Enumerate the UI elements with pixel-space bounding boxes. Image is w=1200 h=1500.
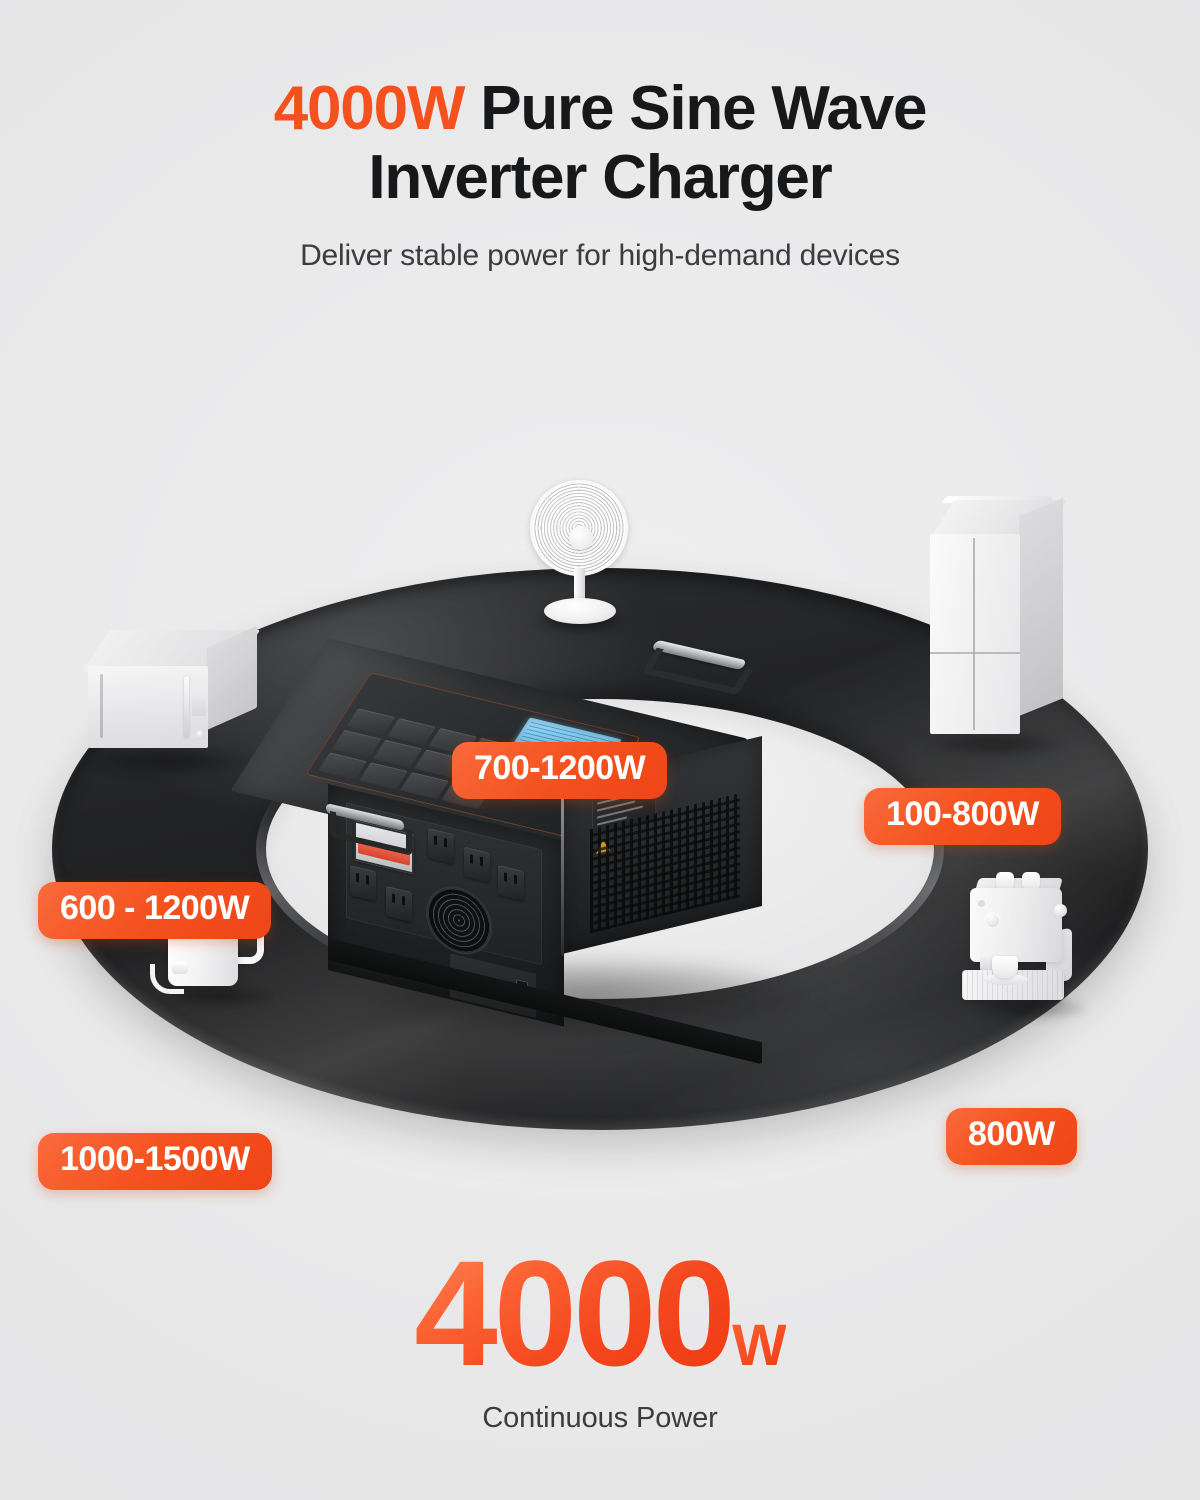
refrigerator-door-seam-horizontal [930, 652, 1020, 654]
cooling-fan-grille [428, 882, 490, 959]
microwave-icon [88, 630, 258, 770]
ac-outlet [428, 828, 454, 864]
panel-button [318, 752, 367, 779]
ac-outlet [350, 865, 376, 901]
continuous-power-value: 4000 [414, 1238, 732, 1388]
panel-button [373, 740, 422, 767]
espresso-machine-icon [962, 870, 1102, 1015]
title-accent: 4000W [274, 74, 464, 143]
coffee-cup [992, 956, 1018, 978]
microwave-knob [196, 730, 205, 739]
power-summary: 4000W Continuous Power [0, 1238, 1200, 1435]
wattage-badge-refrigerator: 100-800W [864, 788, 1061, 845]
refrigerator-front-face [930, 534, 1020, 734]
wattage-badge-microwave: 600 - 1200W [38, 882, 271, 939]
title-rest: Pure Sine Wave [464, 74, 926, 143]
coffee-indicator-light [978, 900, 985, 907]
page-title: 4000W Pure Sine Wave Inverter Charger [0, 74, 1200, 213]
panel-button [332, 730, 381, 757]
page-header: 4000W Pure Sine Wave Inverter Charger De… [0, 74, 1200, 273]
product-scene: 600 - 1200W 700-1200W 100-800W 800W 1000… [0, 330, 1200, 1230]
refrigerator-door-seam-vertical [973, 538, 975, 730]
coffee-control-dial [984, 912, 1001, 929]
refrigerator-shadow [931, 732, 1061, 756]
microwave-keypad [192, 696, 206, 716]
coffee-shadow [971, 998, 1087, 1018]
fan-hub [569, 526, 593, 550]
pedestal-fan-icon [516, 480, 646, 620]
fan-base [544, 598, 616, 624]
ac-outlet [386, 886, 412, 922]
title-line2: Inverter Charger [368, 143, 831, 212]
wattage-badge-kettle: 1000-1500W [38, 1133, 272, 1190]
inverter-corner-highlight [561, 783, 564, 956]
page-subtitle: Deliver stable power for high-demand dev… [0, 239, 1200, 273]
microwave-door-seam [100, 674, 103, 738]
coffee-body [970, 888, 1062, 962]
panel-button [359, 762, 408, 789]
microwave-shadow [93, 748, 253, 774]
wattage-badge-fan: 700-1200W [452, 742, 667, 799]
refrigerator-side-face [1019, 498, 1063, 716]
wattage-badge-coffee-machine: 800W [946, 1108, 1077, 1165]
continuous-power-unit: W [732, 1312, 786, 1379]
refrigerator-icon [930, 500, 1080, 750]
inverter-rear-carry-handle [639, 640, 747, 691]
ac-outlet [498, 865, 524, 901]
inverter-charger-product [318, 638, 838, 1038]
microwave-front-face [88, 666, 208, 748]
continuous-power-caption: Continuous Power [0, 1402, 1200, 1435]
microwave-handle [184, 676, 189, 738]
ac-outlet [464, 847, 490, 883]
kettle-plug [172, 962, 188, 974]
panel-button [400, 772, 449, 799]
coffee-steam-knob [1054, 904, 1067, 917]
